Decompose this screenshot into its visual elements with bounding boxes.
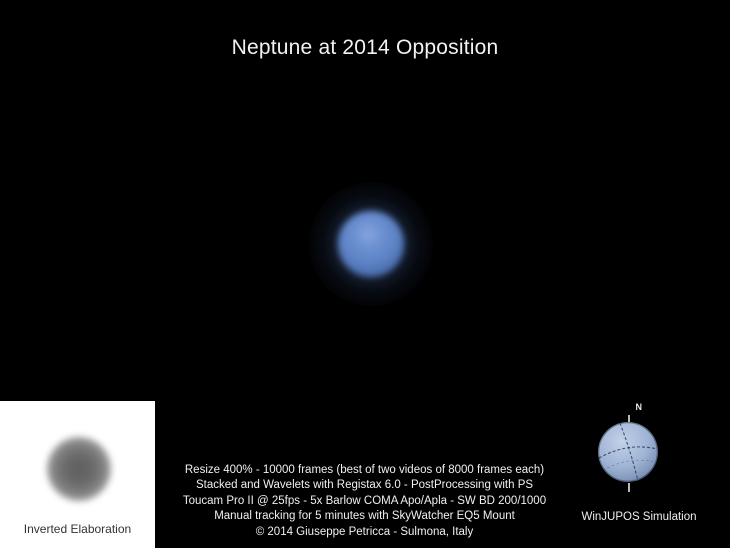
caption-block: Resize 400% - 10000 frames (best of two … [0,463,730,540]
caption-line: Manual tracking for 5 minutes with SkyWa… [0,509,730,524]
caption-line: Toucam Pro II @ 25fps - 5x Barlow COMA A… [0,494,730,509]
caption-line: © 2014 Giuseppe Petricca - Sulmona, Ital… [0,525,730,540]
image-canvas: Neptune at 2014 Opposition Inverted Elab… [0,0,730,548]
page-title: Neptune at 2014 Opposition [0,36,730,60]
north-pole-marker-label: N [548,402,730,412]
neptune-bright-region [351,220,385,248]
caption-line: Stacked and Wavelets with Registax 6.0 -… [0,478,730,493]
caption-line: Resize 400% - 10000 frames (best of two … [0,463,730,478]
